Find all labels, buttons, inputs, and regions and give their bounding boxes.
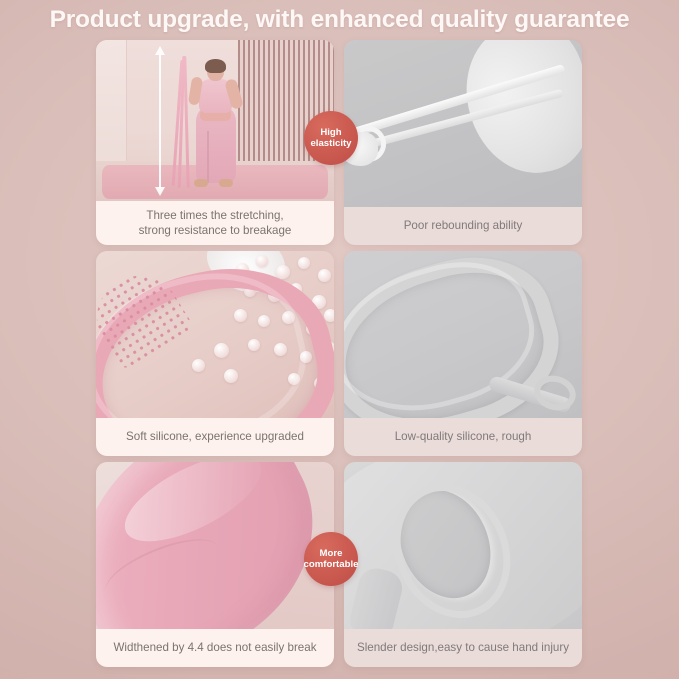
comparison-row-2: Soft silicone, experience upgraded Low-q… [96, 251, 582, 456]
card-slender-design[interactable]: Slender design,easy to cause hand injury [344, 462, 582, 667]
right-shoe-shape [219, 179, 233, 187]
wall-panel-shape [96, 40, 127, 177]
caption-low-quality-silicone: Low-quality silicone, rough [344, 418, 582, 456]
stretch-double-arrow-icon [159, 54, 161, 188]
caption-line: Low-quality silicone, rough [395, 430, 532, 444]
card-upgraded-elasticity[interactable]: Three times the stretching, strong resis… [96, 40, 334, 245]
badge-line: More [320, 548, 343, 560]
caption-line: Three times the stretching, [146, 208, 283, 223]
pellet-shape [192, 359, 205, 372]
pellet-shape [214, 343, 229, 358]
card-poor-rebound[interactable]: Poor rebounding ability [344, 40, 582, 245]
leg-split-shape [207, 131, 209, 183]
caption-upgraded-elasticity: Three times the stretching, strong resis… [96, 201, 334, 245]
caption-line: Widthened by 4.4 does not easily break [113, 641, 316, 655]
comparison-grid: Three times the stretching, strong resis… [96, 40, 582, 668]
caption-line: strong resistance to breakage [139, 223, 292, 238]
grey-smooth-loop-band-photo [344, 251, 582, 418]
product-comparison-poster: Product upgrade, with enhanced quality g… [0, 0, 679, 679]
poster-title-bar: Product upgrade, with enhanced quality g… [0, 0, 679, 40]
card-low-quality-silicone[interactable]: Low-quality silicone, rough [344, 251, 582, 456]
pellet-shape [318, 269, 331, 282]
caption-poor-rebound: Poor rebounding ability [344, 207, 582, 245]
caption-line: Slender design,easy to cause hand injury [357, 641, 569, 655]
pink-textured-silicone-loop-photo [96, 251, 334, 418]
badge-line: High [320, 127, 341, 139]
more-comfortable-badge: More comfortable [304, 532, 358, 586]
page-title: Product upgrade, with enhanced quality g… [50, 6, 630, 34]
badge-line: elasticity [310, 138, 351, 150]
woman-figure-shape [188, 51, 244, 183]
pellet-shape [298, 257, 310, 269]
comparison-row-1: Three times the stretching, strong resis… [96, 40, 582, 245]
badge-line: comfortable [304, 559, 359, 571]
caption-widened-band: Widthened by 4.4 does not easily break [96, 629, 334, 667]
white-stretched-loop-band-photo [344, 40, 582, 207]
card-soft-silicone[interactable]: Soft silicone, experience upgraded [96, 251, 334, 456]
widened-pink-band-closeup-photo [96, 462, 334, 629]
left-shoe-shape [194, 179, 208, 187]
slender-grey-handle-closeup-photo [344, 462, 582, 629]
pellet-shape [224, 369, 238, 383]
caption-line: Poor rebounding ability [404, 219, 523, 233]
pellet-shape [256, 255, 268, 267]
hair-shape [205, 59, 226, 73]
caption-line: Soft silicone, experience upgraded [126, 430, 304, 444]
high-elasticity-badge: High elasticity [304, 111, 358, 165]
pellet-shape [324, 309, 334, 322]
caption-soft-silicone: Soft silicone, experience upgraded [96, 418, 334, 456]
woman-stretching-pink-resistance-band-photo [96, 40, 334, 201]
caption-slender-design: Slender design,easy to cause hand injury [344, 629, 582, 667]
card-widened-band[interactable]: Widthened by 4.4 does not easily break [96, 462, 334, 667]
